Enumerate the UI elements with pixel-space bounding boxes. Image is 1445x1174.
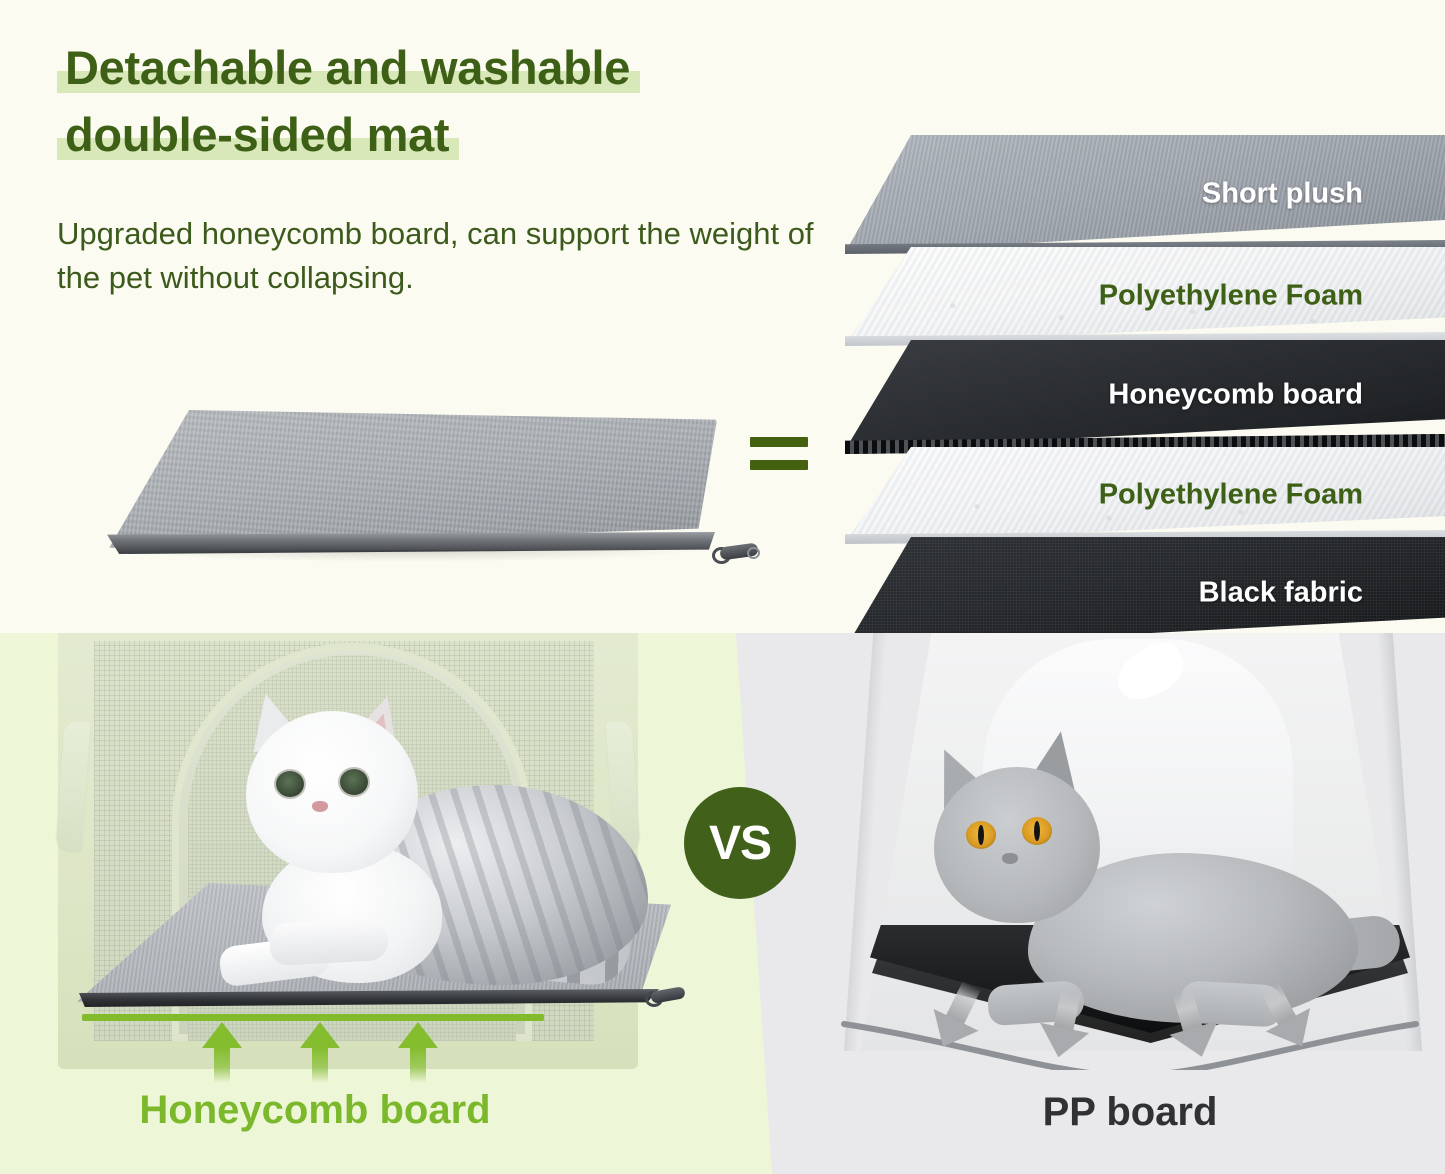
green-carrier-illustration: [22, 633, 682, 1093]
arrow-stem: [312, 1047, 328, 1083]
layer-label-black-fabric: Black fabric: [1199, 577, 1363, 610]
equals-bar-bottom: [750, 460, 808, 470]
layer-polyethylene-foam-bottom: Polyethylene Foam: [845, 447, 1445, 543]
layer-label-short-plush: Short plush: [1202, 178, 1363, 211]
page-title-line-1-text: Detachable and washable: [65, 41, 630, 94]
layer-honeycomb-board: Honeycomb board: [845, 340, 1445, 450]
zipper-hole: [746, 546, 761, 560]
cat-head: [934, 767, 1100, 923]
layer-stack-diagram: Short plush Polyethylene Foam Honeycomb …: [845, 135, 1445, 585]
cat-eye-right: [1022, 817, 1052, 845]
layer-label-polyethylene-foam-top: Polyethylene Foam: [1099, 280, 1363, 313]
arrow-head: [1034, 1023, 1089, 1063]
cat-nose: [312, 801, 328, 812]
equals-icon: [750, 437, 808, 477]
cat-eye-left: [966, 821, 996, 849]
layer-black-fabric: Black fabric: [845, 537, 1445, 633]
label-honeycomb-board: Honeycomb board: [80, 1088, 550, 1133]
up-arrow-icon: [300, 1022, 340, 1082]
layer-label-polyethylene-foam-bottom: Polyethylene Foam: [1099, 479, 1363, 512]
up-arrow-icon: [202, 1022, 242, 1082]
cat-eye-left: [276, 771, 304, 797]
arrow-head: [202, 1022, 242, 1048]
arrow-stem: [410, 1047, 426, 1083]
arrow-head: [398, 1022, 438, 1048]
equals-bar-top: [750, 437, 808, 447]
layer-short-plush: Short plush: [845, 135, 1445, 253]
page-title-line-1: Detachable and washable: [57, 38, 640, 95]
silver-tabby-cat-photo: [142, 693, 682, 1023]
cat-eye-right: [340, 769, 368, 795]
page-title-line-2-text: double-sided mat: [65, 108, 449, 161]
zipper-pull-icon: [712, 542, 760, 564]
top-section: Detachable and washable double-sided mat…: [0, 0, 1445, 633]
layer-polyethylene-foam-top: Polyethylene Foam: [845, 247, 1445, 345]
honeycomb-support-baseline: [82, 1014, 544, 1021]
vs-badge: VS: [684, 787, 796, 899]
page-title-line-2: double-sided mat: [57, 105, 459, 162]
mat-drop-shadow: [115, 550, 705, 562]
arrow-stem: [214, 1047, 230, 1083]
mat-top-surface: [103, 410, 717, 548]
subtitle-text: Upgraded honeycomb board, can support th…: [57, 212, 817, 300]
layer-label-honeycomb-board: Honeycomb board: [1108, 379, 1363, 412]
up-arrow-icon: [398, 1022, 438, 1082]
cat-paw-right: [269, 918, 389, 966]
arrow-head: [300, 1022, 340, 1048]
infographic-canvas: Detachable and washable double-sided mat…: [0, 0, 1445, 1174]
cat-nose: [1002, 853, 1018, 864]
title-block: Detachable and washable double-sided mat: [57, 38, 857, 172]
label-pp-board: PP board: [900, 1090, 1360, 1135]
mat-plush-texture: [103, 410, 717, 548]
mat-product-photo: [15, 400, 755, 590]
cat-head: [246, 711, 418, 873]
